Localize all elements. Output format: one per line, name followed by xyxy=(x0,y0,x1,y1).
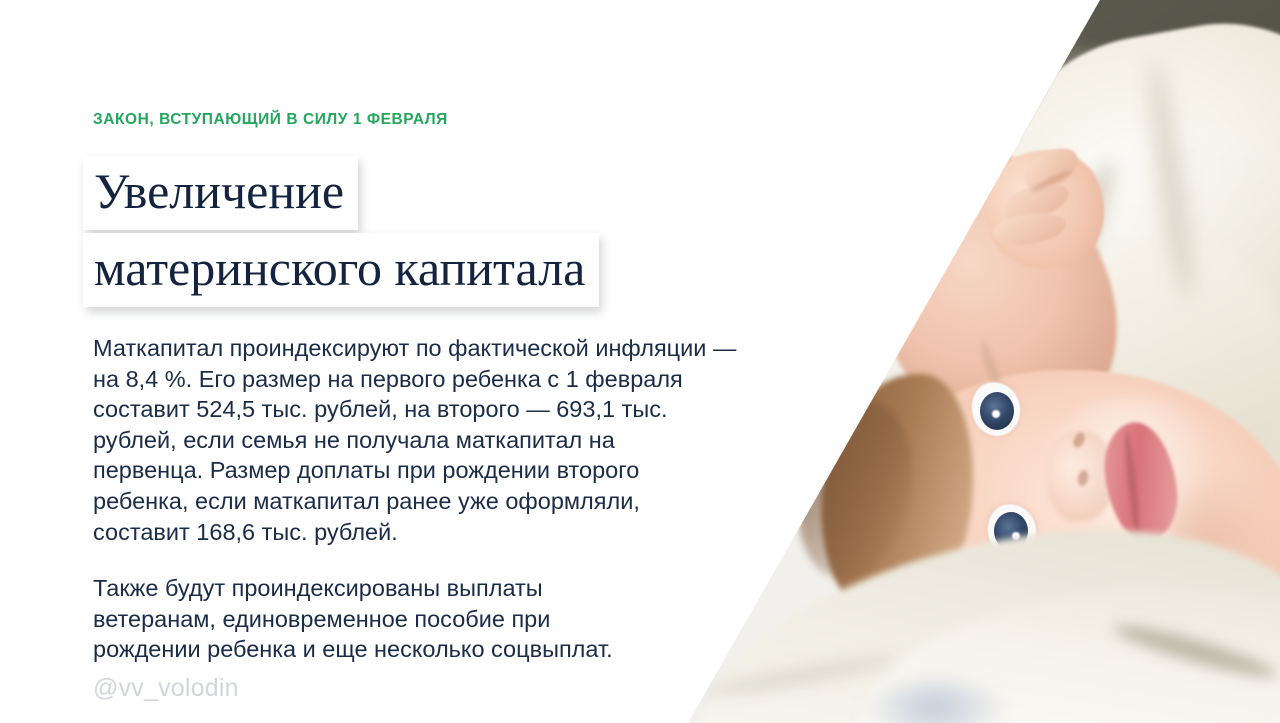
text-column: ЗАКОН, ВСТУПАЮЩИЙ В СИЛУ 1 ФЕВРАЛЯ Увели… xyxy=(0,0,900,723)
eyebrow-label: ЗАКОН, ВСТУПАЮЩИЙ В СИЛУ 1 ФЕВРАЛЯ xyxy=(93,111,448,129)
account-watermark: @vv_volodin xyxy=(93,674,239,703)
body-paragraph-2: Также будут проиндексированы выплаты вет… xyxy=(93,573,883,665)
body-paragraph-1: Маткапитал проиндексируют по фактической… xyxy=(93,333,883,547)
baby-eye-glint xyxy=(992,410,1000,418)
slide-canvas: ЗАКОН, ВСТУПАЮЩИЙ В СИЛУ 1 ФЕВРАЛЯ Увели… xyxy=(0,0,1280,723)
page-title-line-2: материнского капитала xyxy=(83,233,599,307)
page-title-line-1: Увеличение xyxy=(83,156,358,230)
